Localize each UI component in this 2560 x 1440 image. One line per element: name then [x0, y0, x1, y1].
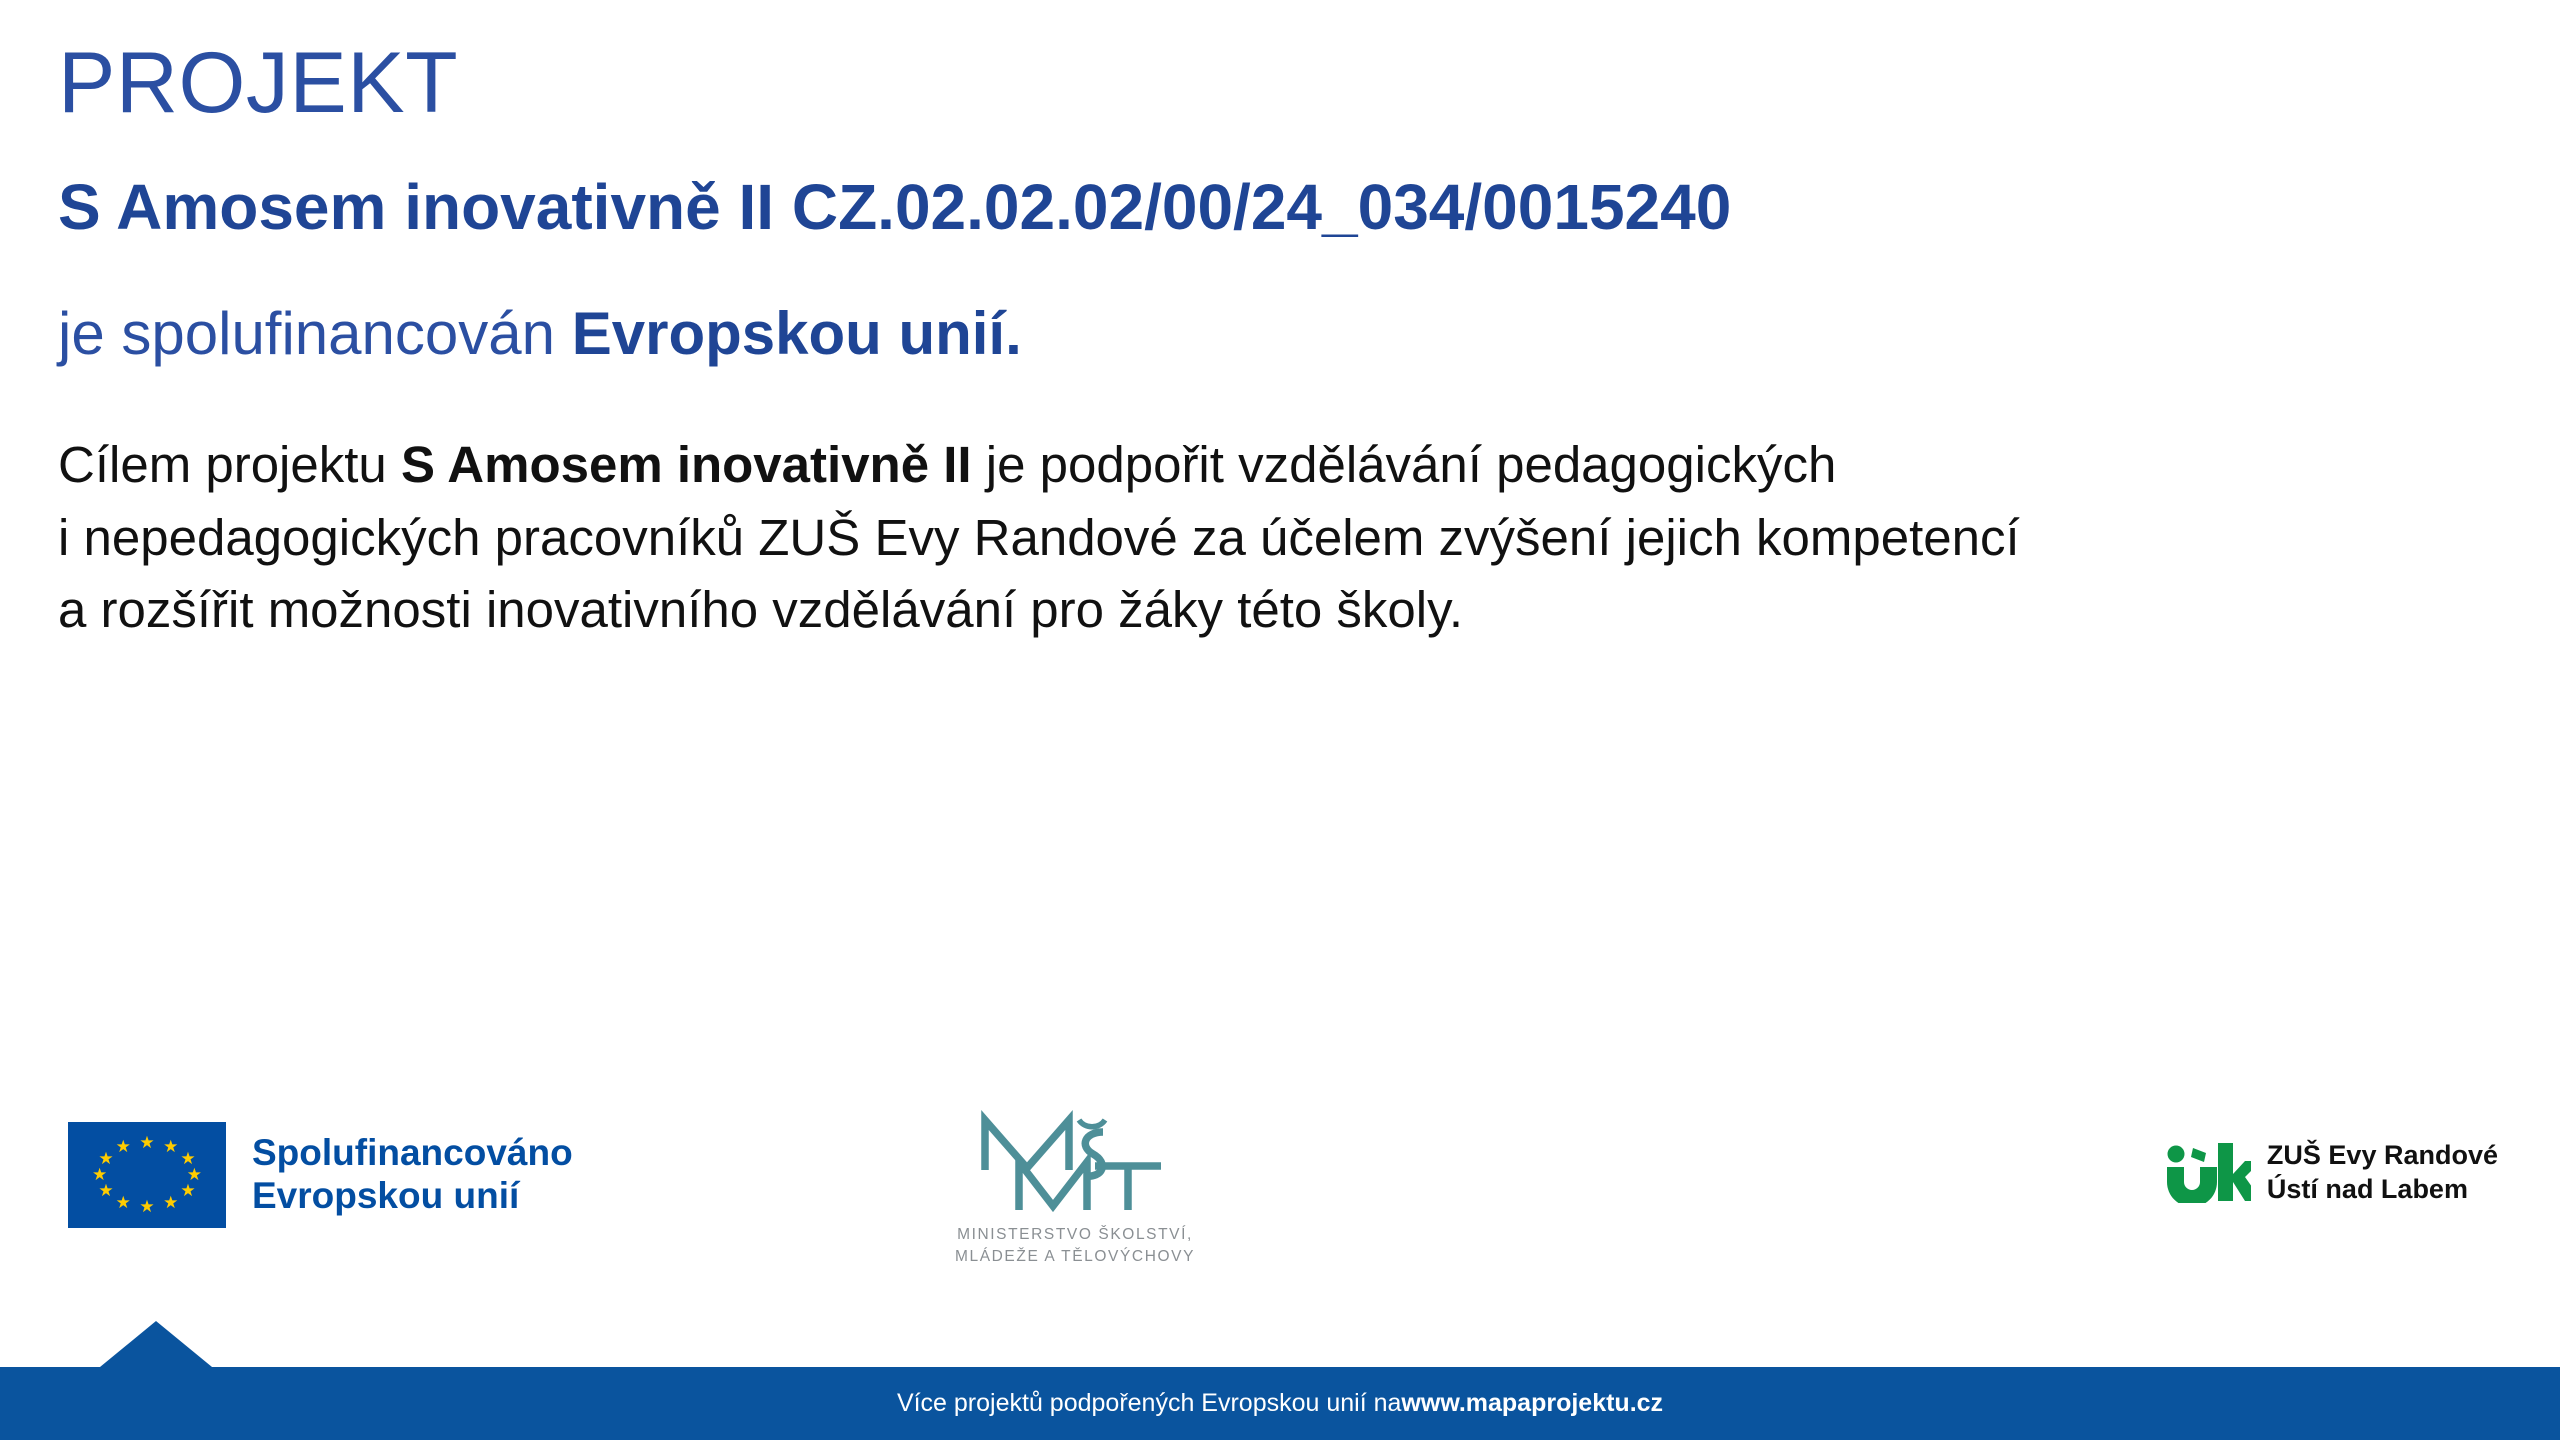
eu-cofinancing-logo: ★★★★★★★★★★★★ Spolufinancováno Evropskou …: [68, 1122, 573, 1228]
footer-url[interactable]: www.mapaprojektu.cz: [1401, 1389, 1663, 1418]
eu-flag-icon: ★★★★★★★★★★★★: [68, 1122, 226, 1228]
footer-notch-triangle: [100, 1321, 212, 1367]
footer-bar: Více projektů podpořených Evropskou unií…: [0, 1367, 2560, 1440]
project-description-paragraph: Cílem projektu S Amosem inovativně II je…: [58, 429, 2508, 646]
eu-logo-text: Spolufinancováno Evropskou unií: [252, 1132, 573, 1218]
description-run-1-3: je podpořit vzdělávání pedagogických: [972, 436, 1837, 493]
msmt-caption-line-2: MLÁDEŽE A TĚLOVÝCHOVY: [940, 1246, 1210, 1268]
school-name-line-1: ZUŠ Evy Randové: [2267, 1138, 2498, 1172]
description-line-1: Cílem projektu S Amosem inovativně II je…: [58, 429, 2508, 501]
msmt-monogram-icon: [975, 1110, 1175, 1218]
school-name-line-2: Ústí nad Labem: [2267, 1172, 2498, 1206]
zus-uk-mark-icon: [2163, 1141, 2251, 1203]
description-line-3: a rozšířit možnosti inovativního vzděláv…: [58, 574, 2508, 646]
page-eyebrow-projekt: PROJEKT: [58, 38, 2508, 128]
eu-logo-line-2: Evropskou unií: [252, 1175, 573, 1218]
description-run-3-1: a rozšířit možnosti inovativního vzděláv…: [58, 581, 1463, 638]
description-run-1-1: Cílem projektu: [58, 436, 401, 493]
project-headline: S Amosem inovativně II CZ.02.02.02/00/24…: [58, 172, 2508, 244]
footer-text: Více projektů podpořených Evropskou unií…: [0, 1367, 2560, 1440]
description-run-1-2: S Amosem inovativně II: [401, 436, 972, 493]
subline-plain-text: je spolufinancován: [58, 300, 572, 367]
msmt-ministry-logo: MINISTERSTVO ŠKOLSTVÍ, MLÁDEŽE A TĚLOVÝC…: [940, 1110, 1210, 1269]
eu-logo-line-1: Spolufinancováno: [252, 1132, 573, 1175]
description-line-2: i nepedagogických pracovníků ZUŠ Evy Ran…: [58, 502, 2508, 574]
msmt-caption: MINISTERSTVO ŠKOLSTVÍ, MLÁDEŽE A TĚLOVÝC…: [940, 1224, 1210, 1269]
text-content-block: PROJEKT S Amosem inovativně II CZ.02.02.…: [58, 38, 2508, 646]
school-logo: ZUŠ Evy Randové Ústí nad Labem: [2163, 1138, 2498, 1206]
footer-plain-text: Více projektů podpořených Evropskou unií…: [897, 1389, 1401, 1418]
cofinancing-subline: je spolufinancován Evropskou unií.: [58, 300, 2508, 367]
partner-logo-strip: ★★★★★★★★★★★★ Spolufinancováno Evropskou …: [0, 1110, 2560, 1300]
slide-canvas: PROJEKT S Amosem inovativně II CZ.02.02.…: [0, 0, 2560, 1440]
subline-bold-text: Evropskou unií.: [572, 300, 1022, 367]
description-run-2-1: i nepedagogických pracovníků ZUŠ Evy Ran…: [58, 509, 2020, 566]
msmt-caption-line-1: MINISTERSTVO ŠKOLSTVÍ,: [940, 1224, 1210, 1246]
school-logo-text: ZUŠ Evy Randové Ústí nad Labem: [2267, 1138, 2498, 1206]
